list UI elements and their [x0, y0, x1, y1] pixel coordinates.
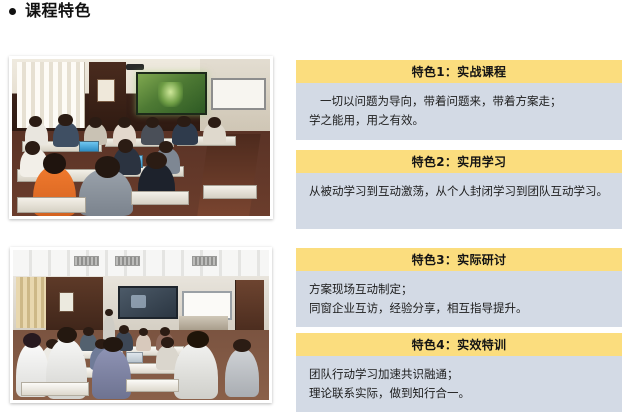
feature-panel-4: 特色4：实效特训 团队行动学习加速共识融通； 理论联系实际，做到知行合一。: [296, 333, 622, 412]
projector-screen-icon: [136, 72, 207, 115]
feature-panel-1-line-1: 一切以问题为导向，带着问题来，带着方案走；: [309, 92, 610, 111]
projector-screen-icon: [118, 286, 178, 319]
feature-panel-3-line-2: 同窗企业互访，经验分享，相互指导提升。: [309, 299, 610, 318]
classroom-photo-2-image: [13, 250, 269, 400]
classroom-photo-1-image: [12, 59, 270, 216]
feature-panel-1-title: 特色1：实战课程: [296, 60, 622, 83]
page-title-text: 课程特色: [25, 3, 91, 19]
feature-panel-4-body: 团队行动学习加速共识融通； 理论联系实际，做到知行合一。: [296, 356, 622, 412]
feature-panel-3: 特色3：实际研讨 方案现场互动制定； 同窗企业互访，经验分享，相互指导提升。: [296, 248, 622, 327]
feature-panel-4-line-2: 理论联系实际，做到知行合一。: [309, 384, 610, 403]
bullet-dot-icon: [9, 8, 16, 15]
feature-panel-2-body: 从被动学习到互动激荡，从个人封闭学习到团队互动学习。: [296, 173, 622, 229]
feature-panel-2: 特色2：实用学习 从被动学习到互动激荡，从个人封闭学习到团队互动学习。: [296, 150, 622, 229]
feature-panel-1: 特色1：实战课程 一切以问题为导向，带着问题来，带着方案走； 学之能用，用之有效…: [296, 60, 622, 140]
feature-panel-2-line-1: 从被动学习到互动激荡，从个人封闭学习到团队互动学习。: [309, 182, 610, 201]
feature-panel-2-title: 特色2：实用学习: [296, 150, 622, 173]
classroom-photo-1: [9, 56, 273, 219]
feature-panel-1-body: 一切以问题为导向，带着问题来，带着方案走； 学之能用，用之有效。: [296, 83, 622, 140]
page-title: 课程特色: [9, 3, 91, 19]
feature-panel-4-line-1: 团队行动学习加速共识融通；: [309, 365, 610, 384]
whiteboard-icon: [211, 78, 267, 110]
classroom-photo-2: [10, 247, 272, 403]
feature-panel-4-title: 特色4：实效特训: [296, 333, 622, 356]
feature-panel-1-line-2: 学之能用，用之有效。: [309, 111, 610, 130]
feature-panel-3-line-1: 方案现场互动制定；: [309, 280, 610, 299]
feature-panel-3-title: 特色3：实际研讨: [296, 248, 622, 271]
feature-panel-3-body: 方案现场互动制定； 同窗企业互访，经验分享，相互指导提升。: [296, 271, 622, 327]
